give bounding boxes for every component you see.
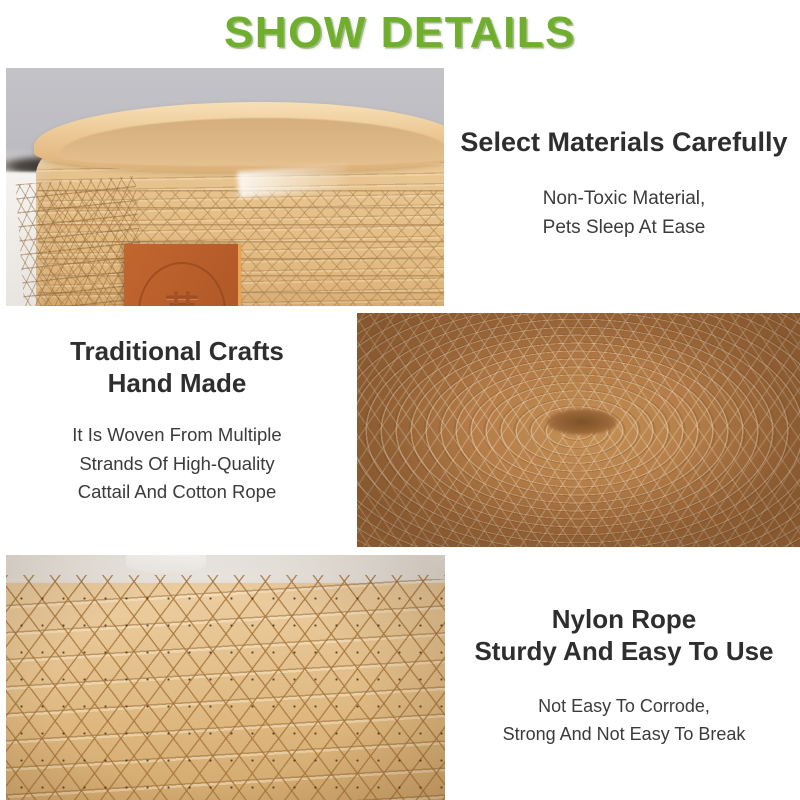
product-image-basket-rim: 苗 bbox=[6, 68, 444, 306]
product-detail-page: SHOW DETAILS 苗 Select Materials Carefull… bbox=[0, 0, 800, 800]
body-traditional-crafts: It Is Woven From Multiple Strands Of Hig… bbox=[10, 421, 344, 505]
heading-select-materials: Select Materials Carefully bbox=[452, 126, 796, 159]
body-select-materials: Non-Toxic Material, Pets Sleep At Ease bbox=[452, 185, 796, 243]
page-title: SHOW DETAILS bbox=[224, 11, 576, 55]
body-line: Non-Toxic Material, bbox=[452, 185, 796, 214]
body-line: Strong And Not Easy To Break bbox=[452, 721, 796, 748]
body-line: Strands Of High-Quality bbox=[10, 450, 344, 478]
basket-base-vignette bbox=[357, 313, 800, 547]
text-block-traditional-crafts: Traditional Crafts Hand Made It Is Woven… bbox=[10, 336, 344, 506]
heading-nylon-rope: Nylon Rope Sturdy And Easy To Use bbox=[452, 604, 796, 667]
heading-line: Nylon Rope bbox=[452, 604, 796, 636]
heading-line: Select Materials Carefully bbox=[452, 126, 796, 159]
tag-logo-glyph: 苗 bbox=[124, 262, 238, 306]
text-block-nylon-rope: Nylon Rope Sturdy And Easy To Use Not Ea… bbox=[452, 604, 796, 748]
heading-line: Traditional Crafts bbox=[10, 336, 344, 368]
heading-traditional-crafts: Traditional Crafts Hand Made bbox=[10, 336, 344, 399]
body-line: Cattail And Cotton Rope bbox=[10, 478, 344, 506]
heading-line: Sturdy And Easy To Use bbox=[452, 636, 796, 668]
text-block-select-materials: Select Materials Carefully Non-Toxic Mat… bbox=[452, 126, 796, 243]
page-header: SHOW DETAILS bbox=[0, 0, 800, 66]
closeup-vignette bbox=[6, 555, 445, 800]
body-line: Pets Sleep At Ease bbox=[452, 214, 796, 243]
product-image-weave-closeup bbox=[6, 555, 445, 800]
body-line: Not Easy To Corrode, bbox=[452, 693, 796, 720]
heading-line: Hand Made bbox=[10, 368, 344, 400]
product-image-basket-base bbox=[357, 313, 800, 547]
body-line: It Is Woven From Multiple bbox=[10, 421, 344, 449]
body-nylon-rope: Not Easy To Corrode, Strong And Not Easy… bbox=[452, 693, 796, 748]
